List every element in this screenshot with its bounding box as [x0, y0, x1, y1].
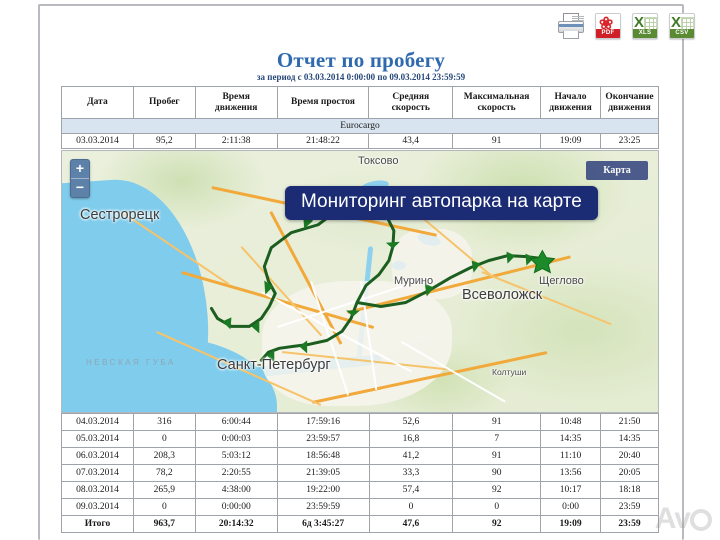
cell-max-speed: 91	[453, 448, 541, 465]
cell-distance: 963,7	[133, 516, 195, 533]
cell-move-time: 5:03:12	[195, 448, 277, 465]
cell-idle-time: 21:48:22	[277, 134, 369, 149]
mileage-report-table: Дата Пробег Время движения Время простоя…	[61, 86, 659, 149]
xls-export-icon-glyph: X	[634, 14, 644, 31]
cell-date: 06.03.2014	[62, 448, 134, 465]
cell-idle-time: 23:59:59	[277, 499, 369, 516]
column-header-start-line1: Начало	[554, 92, 586, 102]
cell-end: 18:18	[601, 482, 659, 499]
cell-avg-speed: 52,6	[369, 414, 453, 431]
xls-export-icon-sheet: X XLS	[632, 13, 658, 39]
column-header-idle-time[interactable]: Время простоя	[277, 87, 369, 119]
table-row[interactable]: Итого963,720:14:326д 3:45:2747,69219:092…	[62, 516, 659, 533]
print-icon-output	[563, 31, 579, 39]
overlay-banner: Мониторинг автопарка на карте	[285, 186, 598, 220]
cell-move-time: 0:00:03	[195, 431, 277, 448]
cell-max-speed: 90	[453, 465, 541, 482]
cell-start: 0:00	[541, 499, 601, 516]
cell-date: 04.03.2014	[62, 414, 134, 431]
report-page: ❀ PDF X XLS X CSV Отчет по пробегу за пе…	[0, 0, 720, 540]
column-header-max-speed-line2: скорость	[477, 103, 515, 113]
pdf-export-icon-sheet: ❀ PDF	[595, 13, 621, 39]
table-row[interactable]: 09.03.201400:00:0023:59:59000:0023:59	[62, 499, 659, 516]
print-icon-strip	[559, 24, 583, 27]
cell-end: 23:59	[601, 516, 659, 533]
cell-avg-speed: 0	[369, 499, 453, 516]
csv-export-icon-glyph: X	[671, 14, 681, 31]
cell-move-time: 6:00:44	[195, 414, 277, 431]
cell-start: 10:17	[541, 482, 601, 499]
table-body-top: Eurocargo03.03.201495,22:11:3821:48:2243…	[62, 119, 659, 149]
cell-start: 19:09	[541, 134, 601, 149]
cell-date: 09.03.2014	[62, 499, 134, 516]
column-header-distance[interactable]: Пробег	[133, 87, 195, 119]
cell-distance: 265,9	[133, 482, 195, 499]
cell-end: 21:50	[601, 414, 659, 431]
csv-export-icon[interactable]: X CSV	[668, 10, 696, 40]
cell-idle-time: 6д 3:45:27	[277, 516, 369, 533]
cell-move-time: 20:14:32	[195, 516, 277, 533]
table-row[interactable]: 03.03.201495,22:11:3821:48:2243,49119:09…	[62, 134, 659, 149]
xls-export-icon[interactable]: X XLS	[631, 10, 659, 40]
cell-date: 05.03.2014	[62, 431, 134, 448]
column-header-start-line2: движения	[549, 103, 591, 113]
cell-date: 03.03.2014	[62, 134, 134, 149]
page-title: Отчет по пробегу	[48, 48, 674, 73]
column-header-end-line2: движения	[608, 103, 650, 113]
cell-move-time: 0:00:00	[195, 499, 277, 516]
export-toolbar: ❀ PDF X XLS X CSV	[557, 10, 696, 40]
cell-max-speed: 91	[453, 414, 541, 431]
column-header-move-time-line2: движения	[215, 103, 257, 113]
print-icon[interactable]	[557, 10, 585, 40]
cell-end: 20:05	[601, 465, 659, 482]
cell-max-speed: 7	[453, 431, 541, 448]
cell-avg-speed: 16,8	[369, 431, 453, 448]
table-row[interactable]: 05.03.201400:00:0323:59:5716,8714:3514:3…	[62, 431, 659, 448]
table-row[interactable]: 04.03.20143166:00:4417:59:1652,69110:482…	[62, 414, 659, 431]
map-zoom-out-button[interactable]: −	[71, 179, 89, 197]
table-body-bottom: 04.03.20143166:00:4417:59:1652,69110:482…	[62, 414, 659, 533]
cell-start: 11:10	[541, 448, 601, 465]
cell-idle-time: 21:39:05	[277, 465, 369, 482]
cell-distance: 78,2	[133, 465, 195, 482]
cell-avg-speed: 47,6	[369, 516, 453, 533]
column-header-end[interactable]: Окончание движения	[600, 87, 658, 119]
cell-date: Итого	[62, 516, 134, 533]
page-left-gutter	[0, 0, 38, 540]
cell-avg-speed: 33,3	[369, 465, 453, 482]
column-header-avg-speed[interactable]: Средняя скорость	[369, 87, 453, 119]
cell-distance: 316	[133, 414, 195, 431]
column-header-date[interactable]: Дата	[62, 87, 134, 119]
cell-date: 07.03.2014	[62, 465, 134, 482]
cell-distance: 0	[133, 431, 195, 448]
cell-move-time: 2:11:38	[195, 134, 277, 149]
cell-max-speed: 91	[453, 134, 541, 149]
cell-end: 23:25	[600, 134, 658, 149]
cell-move-time: 2:20:55	[195, 465, 277, 482]
column-header-max-speed[interactable]: Максимальная скорость	[453, 87, 541, 119]
table-row[interactable]: 06.03.2014208,35:03:1218:56:4841,29111:1…	[62, 448, 659, 465]
cell-start: 14:35	[541, 431, 601, 448]
table-row[interactable]: 08.03.2014265,94:38:0019:22:0057,49210:1…	[62, 482, 659, 499]
cell-distance: 0	[133, 499, 195, 516]
cell-start: 10:48	[541, 414, 601, 431]
column-header-end-line1: Окончание	[605, 92, 653, 102]
vehicle-group-label: Eurocargo	[62, 119, 659, 134]
table-header: Дата Пробег Время движения Время простоя…	[62, 87, 659, 119]
cell-move-time: 4:38:00	[195, 482, 277, 499]
column-header-avg-speed-line2: скорость	[392, 103, 430, 113]
cell-avg-speed: 41,2	[369, 448, 453, 465]
vehicle-group-row[interactable]: Eurocargo	[62, 119, 659, 134]
cell-distance: 208,3	[133, 448, 195, 465]
mileage-report-table-bottom: 04.03.20143166:00:4417:59:1652,69110:482…	[61, 413, 659, 533]
map-zoom-in-button[interactable]: +	[71, 160, 89, 178]
cell-start: 19:09	[541, 516, 601, 533]
table-header-row: Дата Пробег Время движения Время простоя…	[62, 87, 659, 119]
cell-idle-time: 18:56:48	[277, 448, 369, 465]
column-header-start[interactable]: Начало движения	[541, 87, 601, 119]
column-header-avg-speed-line1: Средняя	[392, 92, 429, 102]
column-header-move-time-line1: Время	[222, 92, 249, 102]
cell-distance: 95,2	[133, 134, 195, 149]
cell-idle-time: 17:59:16	[277, 414, 369, 431]
cell-idle-time: 23:59:57	[277, 431, 369, 448]
report-period-subtitle: за период с 03.03.2014 0:00:00 по 09.03.…	[48, 72, 674, 82]
cell-avg-speed: 43,4	[369, 134, 453, 149]
cell-date: 08.03.2014	[62, 482, 134, 499]
cell-avg-speed: 57,4	[369, 482, 453, 499]
cell-start: 13:56	[541, 465, 601, 482]
cell-idle-time: 19:22:00	[277, 482, 369, 499]
cell-end: 23:59	[601, 499, 659, 516]
cell-max-speed: 92	[453, 516, 541, 533]
cell-max-speed: 0	[453, 499, 541, 516]
column-header-max-speed-line1: Максимальная	[464, 92, 530, 102]
cell-end: 14:35	[601, 431, 659, 448]
map-type-button[interactable]: Карта	[586, 161, 648, 180]
cell-end: 20:40	[601, 448, 659, 465]
csv-export-icon-sheet: X CSV	[669, 13, 695, 39]
map-zoom-control[interactable]: + −	[70, 159, 90, 198]
column-header-move-time[interactable]: Время движения	[195, 87, 277, 119]
pdf-export-icon[interactable]: ❀ PDF	[594, 10, 622, 40]
cell-max-speed: 92	[453, 482, 541, 499]
table-row[interactable]: 07.03.201478,22:20:5521:39:0533,39013:56…	[62, 465, 659, 482]
avito-watermark-ring	[690, 509, 712, 531]
pdf-export-icon-label: PDF	[596, 29, 620, 38]
